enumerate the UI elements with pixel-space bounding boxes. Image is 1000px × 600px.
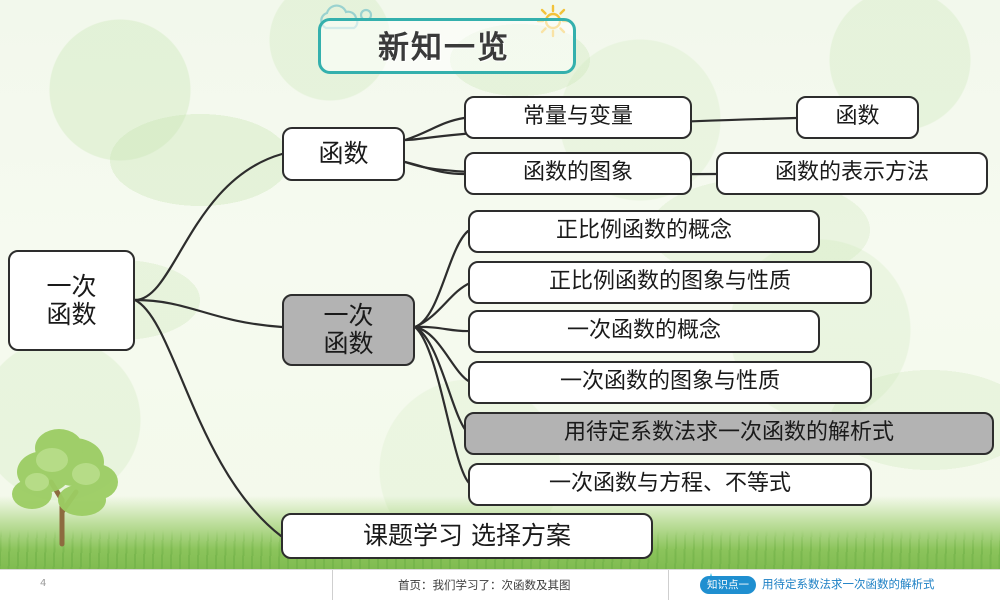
node-linear-function-equation-inequality[interactable]: 一次函数与方程、不等式 [468,463,872,506]
footer-page-number: 4 [40,578,46,589]
node-branch-linear-function[interactable]: 一次 函数 [282,294,415,366]
node-branch-function[interactable]: 函数 [282,127,405,181]
footer-badge: 知识点一 [700,576,756,594]
footer-center-text: 首页：我们学习了：次函数及其图 [398,577,571,593]
footer-knowledge-point: 知识点一用待定系数法求一次函数的解析式 [700,576,935,594]
slide-canvas: 新知一览 [0,0,1000,600]
node-linear-function-graph-property[interactable]: 一次函数的图象与性质 [468,361,872,404]
node-function-graph[interactable]: 函数的图象 [464,152,692,195]
node-function[interactable]: 函数 [796,96,919,139]
node-direct-proportion-graph-property[interactable]: 正比例函数的图象与性质 [468,261,872,304]
footer-right-text: 用待定系数法求一次函数的解析式 [762,577,935,591]
footer-bar: 4 首页：我们学习了：次函数及其图 知识点一用待定系数法求一次函数的解析式 [0,569,1000,600]
node-branch-project-study[interactable]: 课题学习 选择方案 [281,513,653,559]
mindmap: 一次 函数 函数 常量与变量 函数 函数的图象 函数的表示方法 一次 函数 正比… [0,0,1000,570]
node-direct-proportion-concept[interactable]: 正比例函数的概念 [468,210,820,253]
node-root[interactable]: 一次 函数 [8,250,135,351]
footer-divider-left [332,570,333,600]
node-undetermined-coefficients[interactable]: 用待定系数法求一次函数的解析式 [464,412,994,455]
node-linear-function-concept[interactable]: 一次函数的概念 [468,310,820,353]
footer-divider-right [668,570,669,600]
node-constant-variable[interactable]: 常量与变量 [464,96,692,139]
node-function-representation[interactable]: 函数的表示方法 [716,152,988,195]
